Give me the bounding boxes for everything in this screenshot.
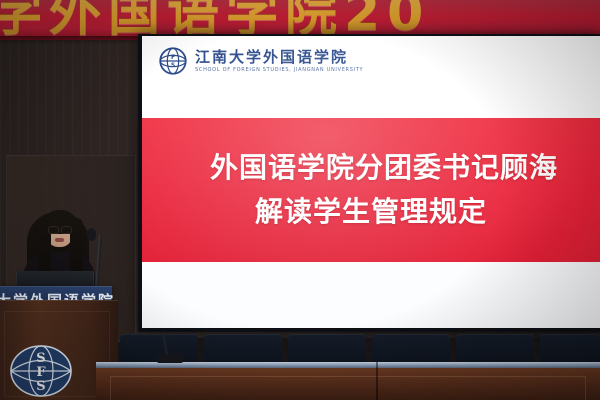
slide-footer [142, 262, 600, 328]
microphone-head-icon [87, 228, 96, 241]
svg-text:F: F [36, 365, 46, 380]
conference-table-front [96, 368, 600, 400]
projection-screen: F S 江南大学外国语学院 SCHOOL OF FOREIGN STUDIES,… [142, 36, 600, 328]
slide-logo: F S 江南大学外国语学院 SCHOOL OF FOREIGN STUDIES,… [158, 46, 363, 76]
svg-text:S: S [171, 62, 175, 69]
slide-logo-chinese: 江南大学外国语学院 [195, 49, 363, 66]
globe-emblem-icon: F S [158, 46, 188, 76]
slide-header: F S 江南大学外国语学院 SCHOOL OF FOREIGN STUDIES,… [142, 36, 600, 118]
slide-title-band: 外国语学院分团委书记顾海 解读学生管理规定 [142, 118, 600, 262]
slide-title-line-2: 解读学生管理规定 [255, 190, 487, 234]
slide-title-line-1: 外国语学院分团委书记顾海 [210, 146, 558, 190]
desk-microphone [157, 354, 183, 363]
svg-text:S: S [36, 351, 45, 366]
lecture-hall-photo: 学外国语学院20 F S 江南大学外国语学院 SCHOOL OF FOREIGN… [0, 0, 600, 400]
slide-logo-english: SCHOOL OF FOREIGN STUDIES, JIANGNAN UNIV… [195, 66, 363, 74]
slide-logo-texts: 江南大学外国语学院 SCHOOL OF FOREIGN STUDIES, JIA… [195, 49, 363, 74]
speaker-mouth [55, 238, 64, 242]
table-seam [376, 362, 378, 400]
svg-text:F: F [171, 54, 175, 61]
sfs-globe-icon: S F S [8, 344, 74, 398]
speaker-glasses [48, 226, 72, 233]
svg-text:S: S [36, 379, 45, 394]
